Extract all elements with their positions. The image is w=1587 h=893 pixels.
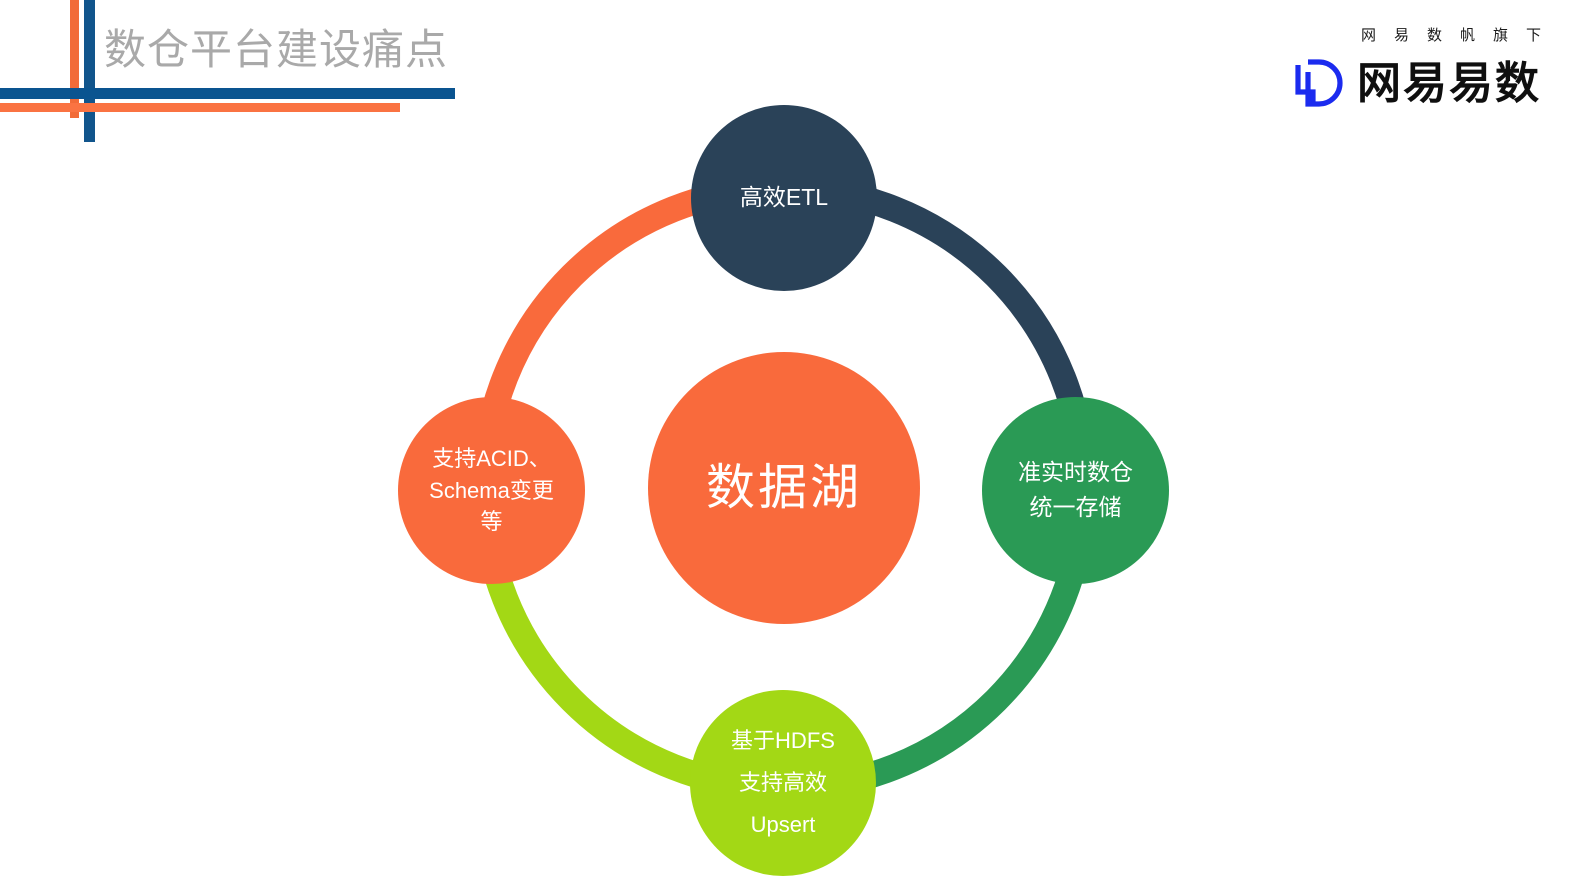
node-left-line-1: 支持ACID、 [408, 443, 575, 475]
node-bottom-line-1: 基于HDFS [700, 720, 866, 762]
node-left-line-2: Schema变更 [408, 475, 575, 507]
node-bottom-hdfs-upsert[interactable]: 基于HDFS 支持高效 Upsert [690, 690, 876, 876]
node-right-label: 准实时数仓 统一存储 [982, 456, 1169, 525]
node-bottom-line-3: Upsert [700, 804, 866, 846]
node-top-efficient-etl[interactable]: 高效ETL [691, 105, 877, 291]
node-center-label: 数据湖 [648, 461, 920, 515]
node-right-line-2: 统一存储 [992, 491, 1159, 526]
node-right-near-realtime-warehouse[interactable]: 准实时数仓 统一存储 [982, 397, 1169, 584]
node-bottom-line-2: 支持高效 [700, 762, 866, 804]
node-top-label: 高效ETL [691, 182, 877, 213]
node-left-line-3: 等 [408, 506, 575, 538]
node-bottom-label: 基于HDFS 支持高效 Upsert [690, 720, 876, 845]
node-left-label: 支持ACID、 Schema变更 等 [398, 443, 585, 539]
node-center-data-lake[interactable]: 数据湖 [648, 352, 920, 624]
node-right-line-1: 准实时数仓 [992, 456, 1159, 491]
node-left-acid-schema[interactable]: 支持ACID、 Schema变更 等 [398, 397, 585, 584]
data-lake-cycle-diagram: 数据湖 高效ETL 支持ACID、 Schema变更 等 准实时数仓 统一存储 … [0, 0, 1587, 893]
